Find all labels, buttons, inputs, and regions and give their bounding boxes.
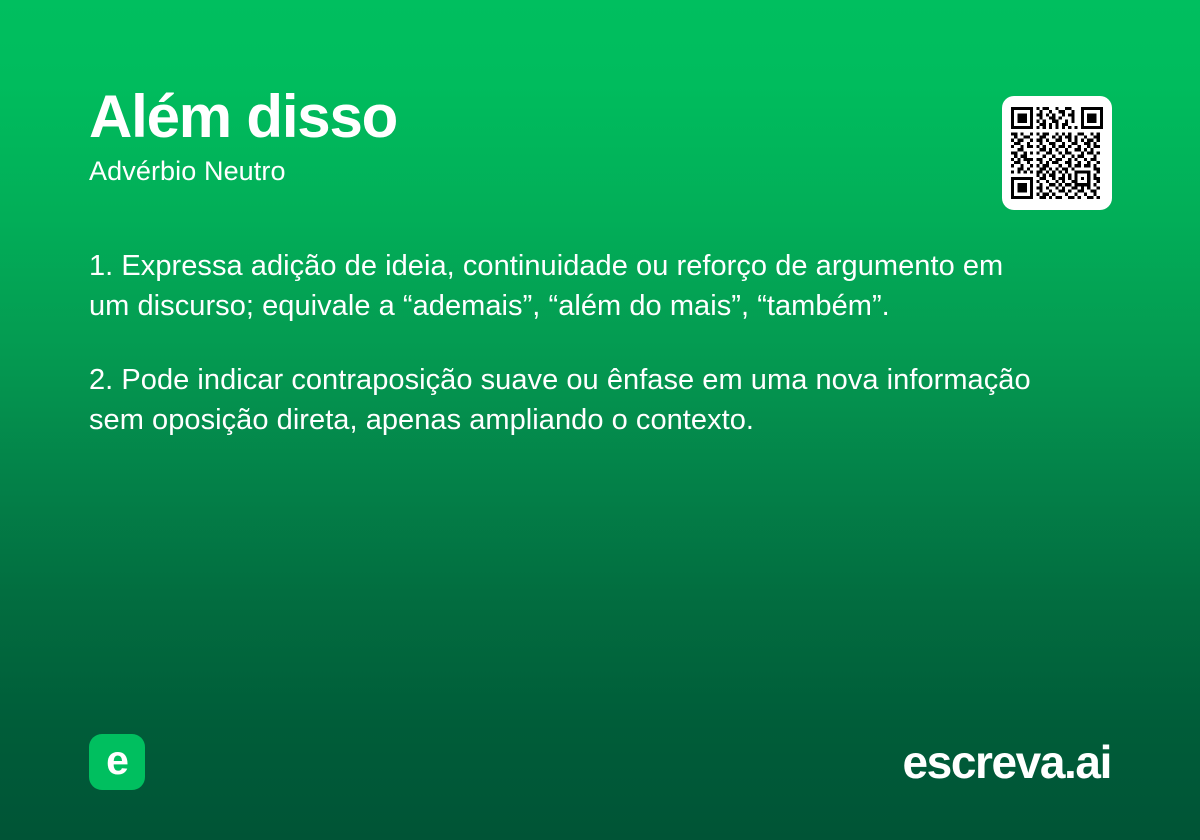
qr-code-icon <box>1011 107 1103 199</box>
escreva-logo-icon[interactable]: e <box>89 734 145 790</box>
brand-wordmark[interactable]: escreva.ai <box>902 739 1111 785</box>
definition-item: 2. Pode indicar contraposição suave ou ê… <box>89 360 1089 440</box>
definition-item: 1. Expressa adição de ideia, continuidad… <box>89 246 1041 326</box>
definition-card: Além disso Advérbio Neutro <box>0 0 1200 840</box>
definition-list: 1. Expressa adição de ideia, continuidad… <box>89 246 1089 440</box>
word-class-subtitle: Advérbio Neutro <box>89 155 1111 187</box>
logo-letter: e <box>106 740 128 781</box>
page-title: Além disso <box>89 86 1111 147</box>
card-header: Além disso Advérbio Neutro <box>89 86 1111 188</box>
card-footer: e escreva.ai <box>89 734 1111 790</box>
qr-code-panel[interactable] <box>1002 96 1112 210</box>
